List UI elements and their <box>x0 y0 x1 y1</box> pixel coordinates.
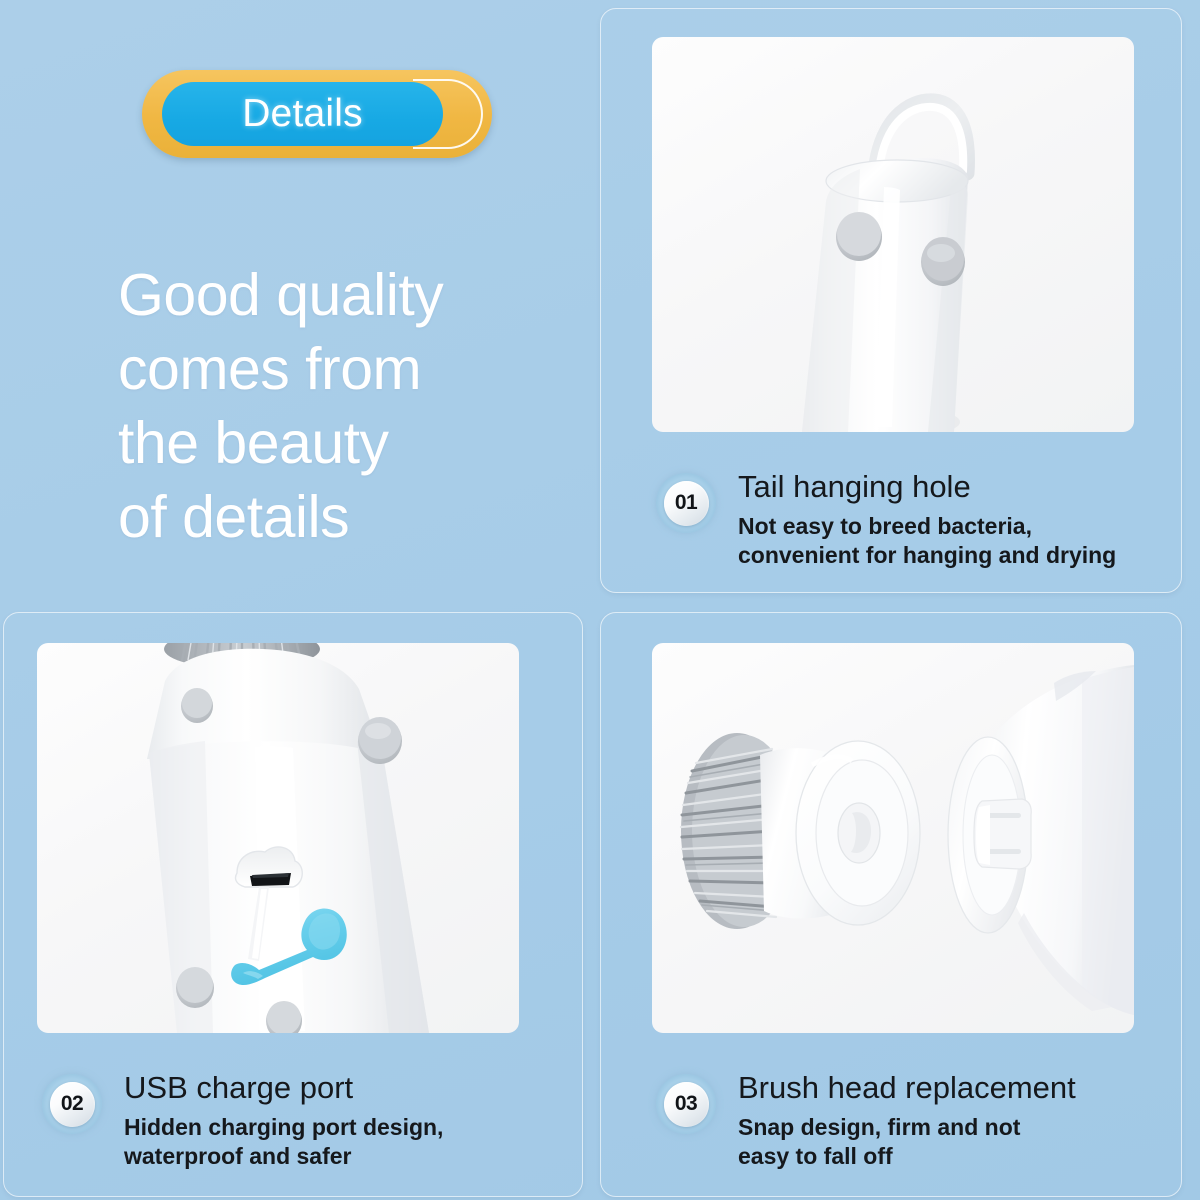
feature-number-01: 01 <box>675 491 697 515</box>
details-badge: Details <box>142 70 492 158</box>
feature-description-02-line-1: Hidden charging port design, <box>124 1113 443 1142</box>
feature-title-01: Tail hanging hole <box>738 467 1116 507</box>
feature-panel-03: 03 Brush head replacement Snap design, f… <box>600 612 1182 1197</box>
feature-number-02: 02 <box>61 1092 83 1116</box>
details-badge-label: Details <box>242 92 363 136</box>
feature-number-badge-03: 03 <box>656 1074 716 1134</box>
feature-caption-02: 02 USB charge port Hidden charging port … <box>42 1068 443 1171</box>
brush-head-replacement-photo <box>652 643 1134 1033</box>
feature-caption-01: 01 Tail hanging hole Not easy to breed b… <box>656 467 1116 570</box>
tail-illustration <box>652 37 1134 432</box>
brush-illustration <box>652 643 1134 1033</box>
feature-text-02: USB charge port Hidden charging port des… <box>124 1068 443 1171</box>
feature-title-02: USB charge port <box>124 1068 443 1108</box>
feature-number-badge-inner-02: 02 <box>50 1082 95 1127</box>
feature-title-03: Brush head replacement <box>738 1068 1076 1108</box>
feature-description-02-line-2: waterproof and safer <box>124 1142 443 1171</box>
feature-description-02: Hidden charging port design, waterproof … <box>124 1113 443 1171</box>
usb-charge-port-photo <box>37 643 519 1033</box>
feature-text-01: Tail hanging hole Not easy to breed bact… <box>738 467 1116 570</box>
feature-description-03-line-2: easy to fall off <box>738 1142 1076 1171</box>
feature-description-01: Not easy to breed bacteria, convenient f… <box>738 512 1116 570</box>
headline-line-4: of details <box>118 480 588 554</box>
feature-panel-01: 01 Tail hanging hole Not easy to breed b… <box>600 8 1182 593</box>
tail-hanging-hole-photo <box>652 37 1134 432</box>
feature-description-03-line-1: Snap design, firm and not <box>738 1113 1076 1142</box>
headline-line-1: Good quality <box>118 258 588 332</box>
feature-panel-02: 02 USB charge port Hidden charging port … <box>3 612 583 1197</box>
feature-description-01-line-2: convenient for hanging and drying <box>738 541 1116 570</box>
product-detail-page: Details Good quality comes from the beau… <box>0 0 1200 1200</box>
feature-number-03: 03 <box>675 1092 697 1116</box>
usb-illustration <box>37 643 519 1033</box>
headline-line-3: the beauty <box>118 406 588 480</box>
feature-number-badge-inner-03: 03 <box>664 1082 709 1127</box>
feature-description-03: Snap design, firm and not easy to fall o… <box>738 1113 1076 1171</box>
feature-number-badge-inner-01: 01 <box>664 481 709 526</box>
headline: Good quality comes from the beauty of de… <box>118 258 588 554</box>
feature-number-badge-02: 02 <box>42 1074 102 1134</box>
feature-description-01-line-1: Not easy to breed bacteria, <box>738 512 1116 541</box>
feature-number-badge-01: 01 <box>656 473 716 533</box>
details-badge-inner: Details <box>162 82 443 146</box>
headline-line-2: comes from <box>118 332 588 406</box>
feature-text-03: Brush head replacement Snap design, firm… <box>738 1068 1076 1171</box>
feature-caption-03: 03 Brush head replacement Snap design, f… <box>656 1068 1076 1171</box>
